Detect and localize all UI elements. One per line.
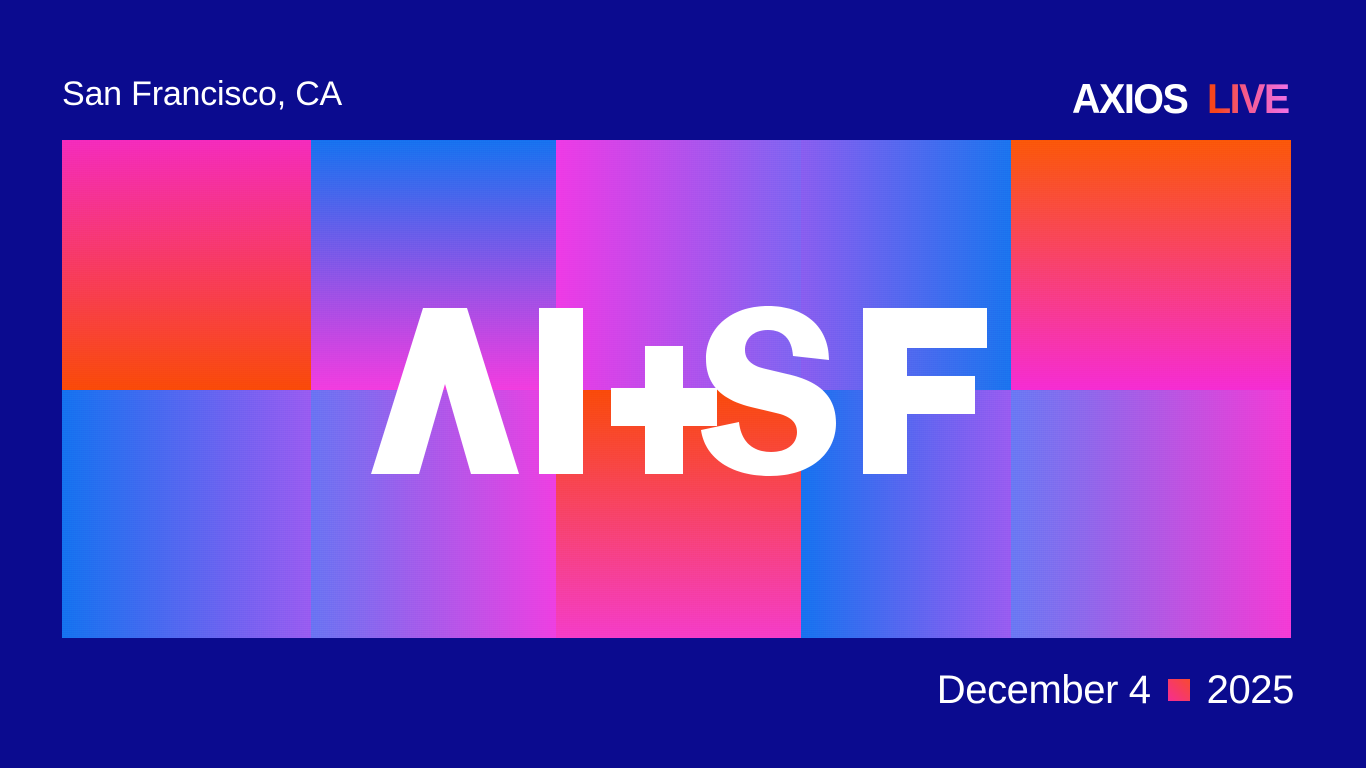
cell-r2c3 [556, 390, 801, 638]
axios-live-logo: AXIOS LIVE [1072, 78, 1294, 120]
cell-r1c2 [311, 140, 556, 390]
cell-r2c1 [62, 390, 311, 638]
live-wordmark: LIVE [1207, 78, 1289, 120]
event-date-year: 2025 [1207, 670, 1294, 710]
event-date-day: December 4 [937, 670, 1151, 710]
cell-r1c1 [62, 140, 311, 390]
cell-r2c2 [311, 390, 556, 638]
cell-r1c3 [556, 140, 801, 390]
axios-wordmark: AXIOS [1072, 78, 1187, 120]
event-date: December 4 2025 [937, 670, 1294, 710]
date-separator-square-icon [1168, 679, 1190, 701]
cell-r1c5 [1011, 140, 1291, 390]
cell-r2c5 [1011, 390, 1291, 638]
event-location: San Francisco, CA [62, 77, 342, 111]
artwork-panel [62, 140, 1291, 638]
event-poster: San Francisco, CA AXIOS LIVE [0, 0, 1366, 768]
color-grid [62, 140, 1291, 638]
cell-r1c4 [801, 140, 1011, 390]
cell-r2c4 [801, 390, 1011, 638]
